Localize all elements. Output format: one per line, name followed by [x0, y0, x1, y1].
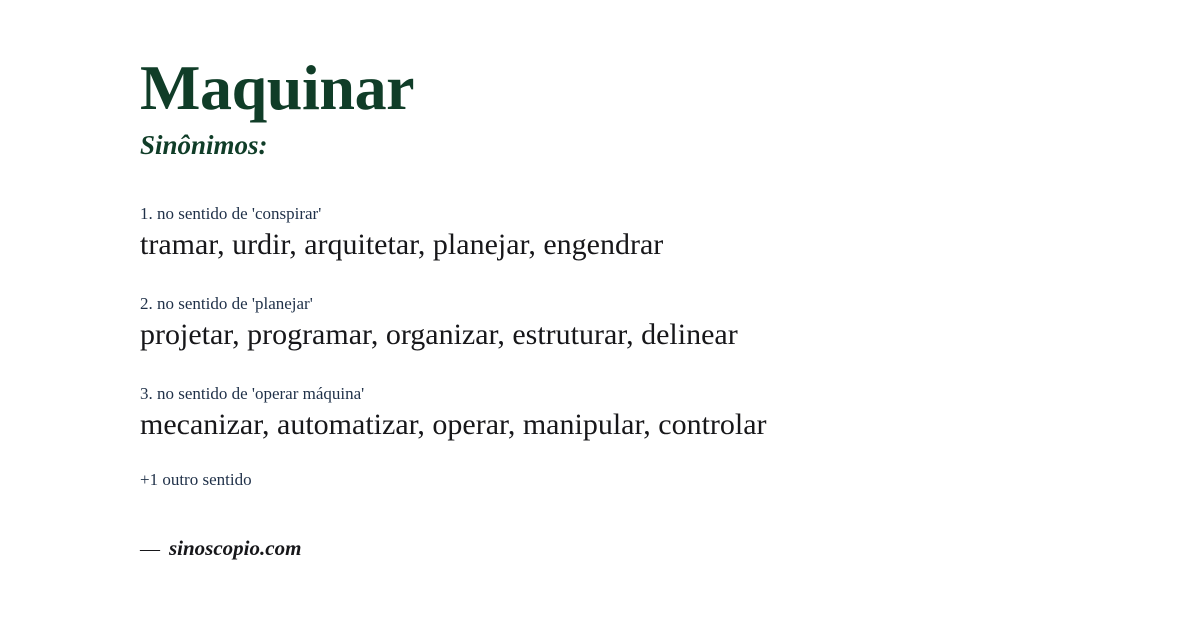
sense-synonyms: tramar, urdir, arquitetar, planejar, eng…	[140, 227, 1140, 262]
sense-group: 3. no sentido de 'operar máquina' mecani…	[140, 384, 1140, 443]
em-dash: —	[140, 539, 160, 559]
card-footer: — sinoscopio.com	[140, 538, 1140, 559]
sense-synonyms: projetar, programar, organizar, estrutur…	[140, 317, 1140, 352]
page-title: Maquinar	[140, 56, 1140, 120]
sense-synonyms: mecanizar, automatizar, operar, manipula…	[140, 407, 1140, 442]
synonym-card: Maquinar Sinônimos: 1. no sentido de 'co…	[0, 0, 1200, 628]
source-attribution: sinoscopio.com	[169, 538, 301, 559]
card-header: Maquinar Sinônimos:	[140, 0, 1140, 159]
sense-label: 1. no sentido de 'conspirar'	[140, 204, 1140, 224]
sense-label: 2. no sentido de 'planejar'	[140, 294, 1140, 314]
senses-list: 1. no sentido de 'conspirar' tramar, urd…	[140, 204, 1140, 442]
section-label-synonyms: Sinônimos:	[140, 132, 1140, 159]
sense-group: 1. no sentido de 'conspirar' tramar, urd…	[140, 204, 1140, 263]
sense-label: 3. no sentido de 'operar máquina'	[140, 384, 1140, 404]
more-senses-note: +1 outro sentido	[140, 470, 1140, 490]
sense-group: 2. no sentido de 'planejar' projetar, pr…	[140, 294, 1140, 353]
